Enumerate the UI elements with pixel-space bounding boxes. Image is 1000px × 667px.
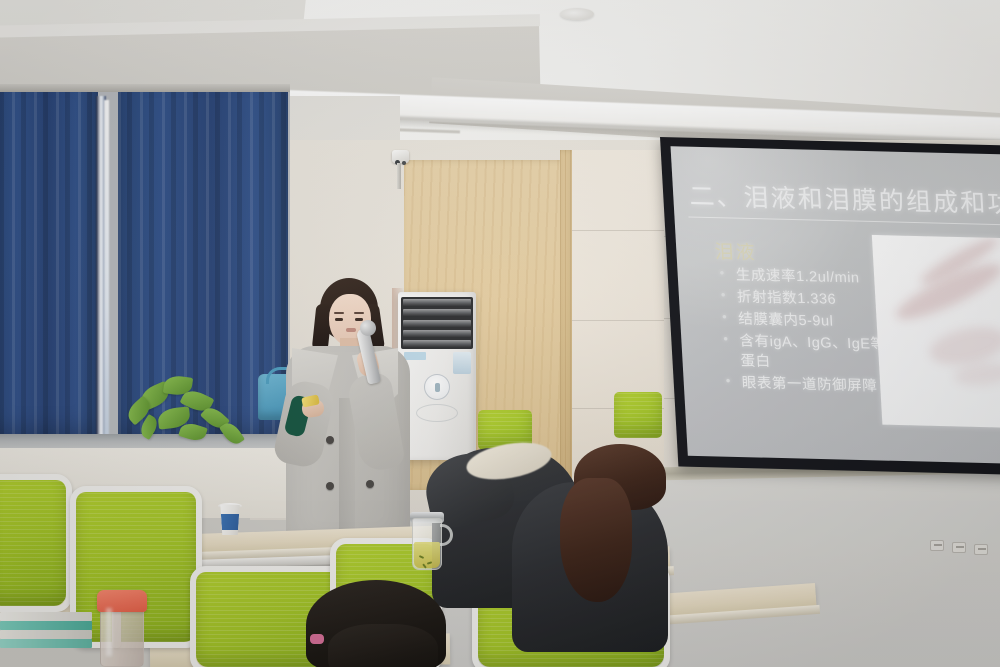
lecture-room-photo: 二、泪液和泪膜的组成和功能 泪液 生成速率1.2ul/min 折射指数1.336…	[0, 0, 1000, 667]
screen-frame: 二、泪液和泪膜的组成和功能 泪液 生成速率1.2ul/min 折射指数1.336…	[660, 137, 1000, 475]
bottle-highlight	[106, 608, 112, 656]
coat-button	[366, 480, 374, 488]
presenter-mouth	[346, 328, 356, 332]
attendee-front	[306, 580, 446, 667]
ac-label-sticker	[453, 352, 471, 374]
camera-lens-icon	[402, 161, 406, 165]
water-bottle-cap[interactable]	[97, 590, 147, 612]
chair-far[interactable]	[614, 392, 662, 438]
curtain-gap-highlight	[104, 100, 109, 440]
curtain-rail	[0, 84, 290, 92]
slide-subtitle: 泪液	[714, 237, 758, 265]
hair-clip	[310, 634, 324, 644]
power-outlet[interactable]	[930, 540, 944, 551]
potted-plant	[120, 372, 260, 462]
curtain-left[interactable]	[0, 90, 98, 442]
coat-button	[326, 436, 334, 444]
ceiling-vent-icon	[560, 8, 594, 20]
coat-button	[326, 482, 334, 490]
wall-column	[572, 150, 664, 490]
slide-illustration	[872, 235, 1000, 428]
paper-cup[interactable]	[219, 505, 241, 535]
projection-screen[interactable]: 二、泪液和泪膜的组成和功能 泪液 生成速率1.2ul/min 折射指数1.336…	[660, 137, 1000, 475]
power-outlet[interactable]	[952, 542, 966, 553]
ac-control-dial[interactable]	[424, 374, 450, 400]
attendee-ponytail	[512, 452, 668, 652]
presenter	[276, 278, 426, 568]
power-outlet[interactable]	[974, 544, 988, 555]
chair[interactable]	[0, 480, 66, 606]
camera-mount	[397, 163, 401, 189]
slide-surface: 二、泪液和泪膜的组成和功能 泪液 生成速率1.2ul/min 折射指数1.336…	[671, 146, 1000, 464]
books-stack	[0, 612, 92, 646]
